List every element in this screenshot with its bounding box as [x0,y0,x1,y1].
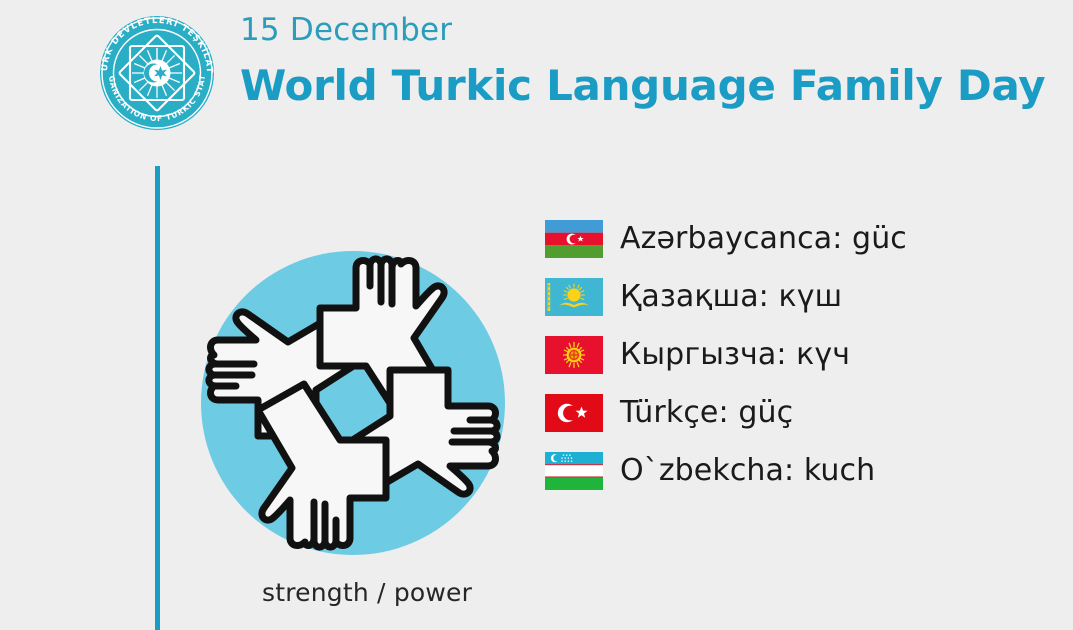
language-label: Azərbaycanca: güc [620,220,907,258]
poster-canvas: TÜRK DEVLETLERİ TEŞKİLATI ORGANIZATION O… [0,0,1073,630]
page-title: World Turkic Language Family Day [240,58,1050,114]
header-text-block: 15 December World Turkic Language Family… [240,10,1050,114]
illustration-caption: strength / power [262,578,472,607]
kazakhstan-flag-icon [545,278,603,316]
language-label: Türkçe: güç [620,394,793,432]
event-date: 15 December [240,10,1050,50]
turkey-flag-icon [545,394,603,432]
kyrgyzstan-flag-icon [545,336,603,374]
uzbekistan-flag-icon [545,452,603,490]
organization-of-turkic-states-emblem-icon: TÜRK DEVLETLERİ TEŞKİLATI ORGANIZATION O… [93,12,221,134]
unity-hands-illustration [196,250,516,562]
list-item: Қазақша: күш [545,268,1045,326]
language-list: Azərbaycanca: güc [545,210,1045,500]
list-item: Кыргызча: күч [545,326,1045,384]
list-item: O`zbekcha: kuch [545,442,1045,500]
language-label: Қазақша: күш [620,278,842,316]
language-label: O`zbekcha: kuch [620,452,875,490]
azerbaijan-flag-icon [545,220,603,258]
language-label: Кыргызча: күч [620,336,850,374]
list-item: Azərbaycanca: güc [545,210,1045,268]
list-item: Türkçe: güç [545,384,1045,442]
vertical-accent-rule [155,166,160,630]
